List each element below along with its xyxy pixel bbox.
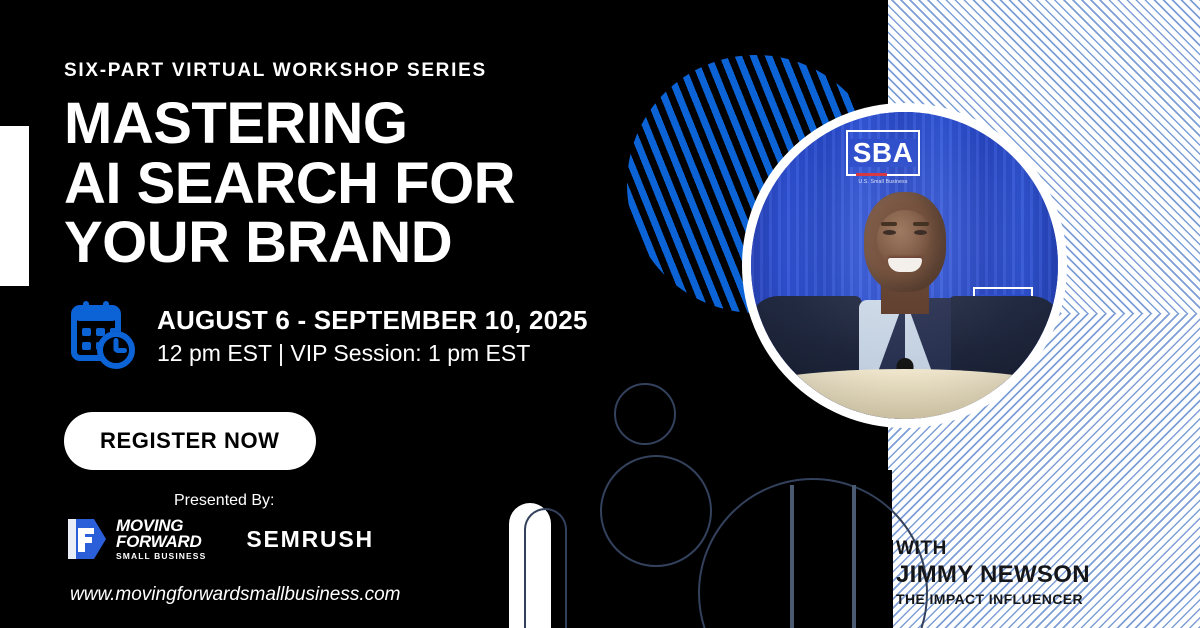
photo-vignette	[751, 112, 1058, 419]
moving-forward-wordmark: MOVING FORWARD SMALL BUSINESS	[116, 518, 206, 560]
schedule-text: AUGUST 6 - SEPTEMBER 10, 2025 12 pm EST …	[157, 304, 588, 369]
mf-line-2: FORWARD	[116, 534, 206, 550]
page-title: MASTERING AI SEARCH FOR YOUR BRAND	[64, 94, 515, 273]
sponsor-logos: MOVING FORWARD SMALL BUSINESS SEMRUSH	[64, 516, 374, 562]
speaker-title: THE IMPACT INFLUENCER	[896, 592, 1090, 608]
vertical-bar-left	[790, 485, 794, 628]
vertical-bar-right	[852, 485, 856, 628]
headline-line-2: AI SEARCH FOR	[64, 154, 515, 214]
semrush-logo[interactable]: SEMRUSH	[246, 526, 374, 553]
headline-line-1: MASTERING	[64, 94, 515, 154]
speaker-name: JIMMY NEWSON	[896, 562, 1090, 589]
presented-by-label: Presented By:	[174, 492, 275, 510]
speaker-photo: SBA U.S. Small Business SBA U.S. Small B…	[751, 112, 1058, 419]
schedule-block: AUGUST 6 - SEPTEMBER 10, 2025 12 pm EST …	[64, 300, 588, 372]
left-accent-bar	[0, 126, 29, 286]
register-now-button[interactable]: REGISTER NOW	[64, 412, 316, 470]
website-url[interactable]: www.movingforwardsmallbusiness.com	[70, 584, 401, 606]
moving-forward-arrow-icon	[64, 516, 108, 562]
mf-line-3: SMALL BUSINESS	[116, 552, 206, 560]
headline-line-3: YOUR BRAND	[64, 213, 515, 273]
session-times: 12 pm EST | VIP Session: 1 pm EST	[157, 339, 588, 369]
speaker-with-label: WITH	[896, 538, 1090, 559]
calendar-clock-icon	[64, 300, 139, 372]
main-content: SIX-PART VIRTUAL WORKSHOP SERIES MASTERI…	[64, 0, 624, 628]
moving-forward-logo[interactable]: MOVING FORWARD SMALL BUSINESS	[64, 516, 206, 562]
series-eyebrow: SIX-PART VIRTUAL WORKSHOP SERIES	[64, 60, 487, 82]
speaker-photo-circle: SBA U.S. Small Business SBA U.S. Small B…	[742, 103, 1067, 428]
date-range: AUGUST 6 - SEPTEMBER 10, 2025	[157, 306, 588, 336]
promo-banner: SBA U.S. Small Business SBA U.S. Small B…	[0, 0, 1200, 628]
speaker-attribution: WITH JIMMY NEWSON THE IMPACT INFLUENCER	[896, 538, 1090, 608]
